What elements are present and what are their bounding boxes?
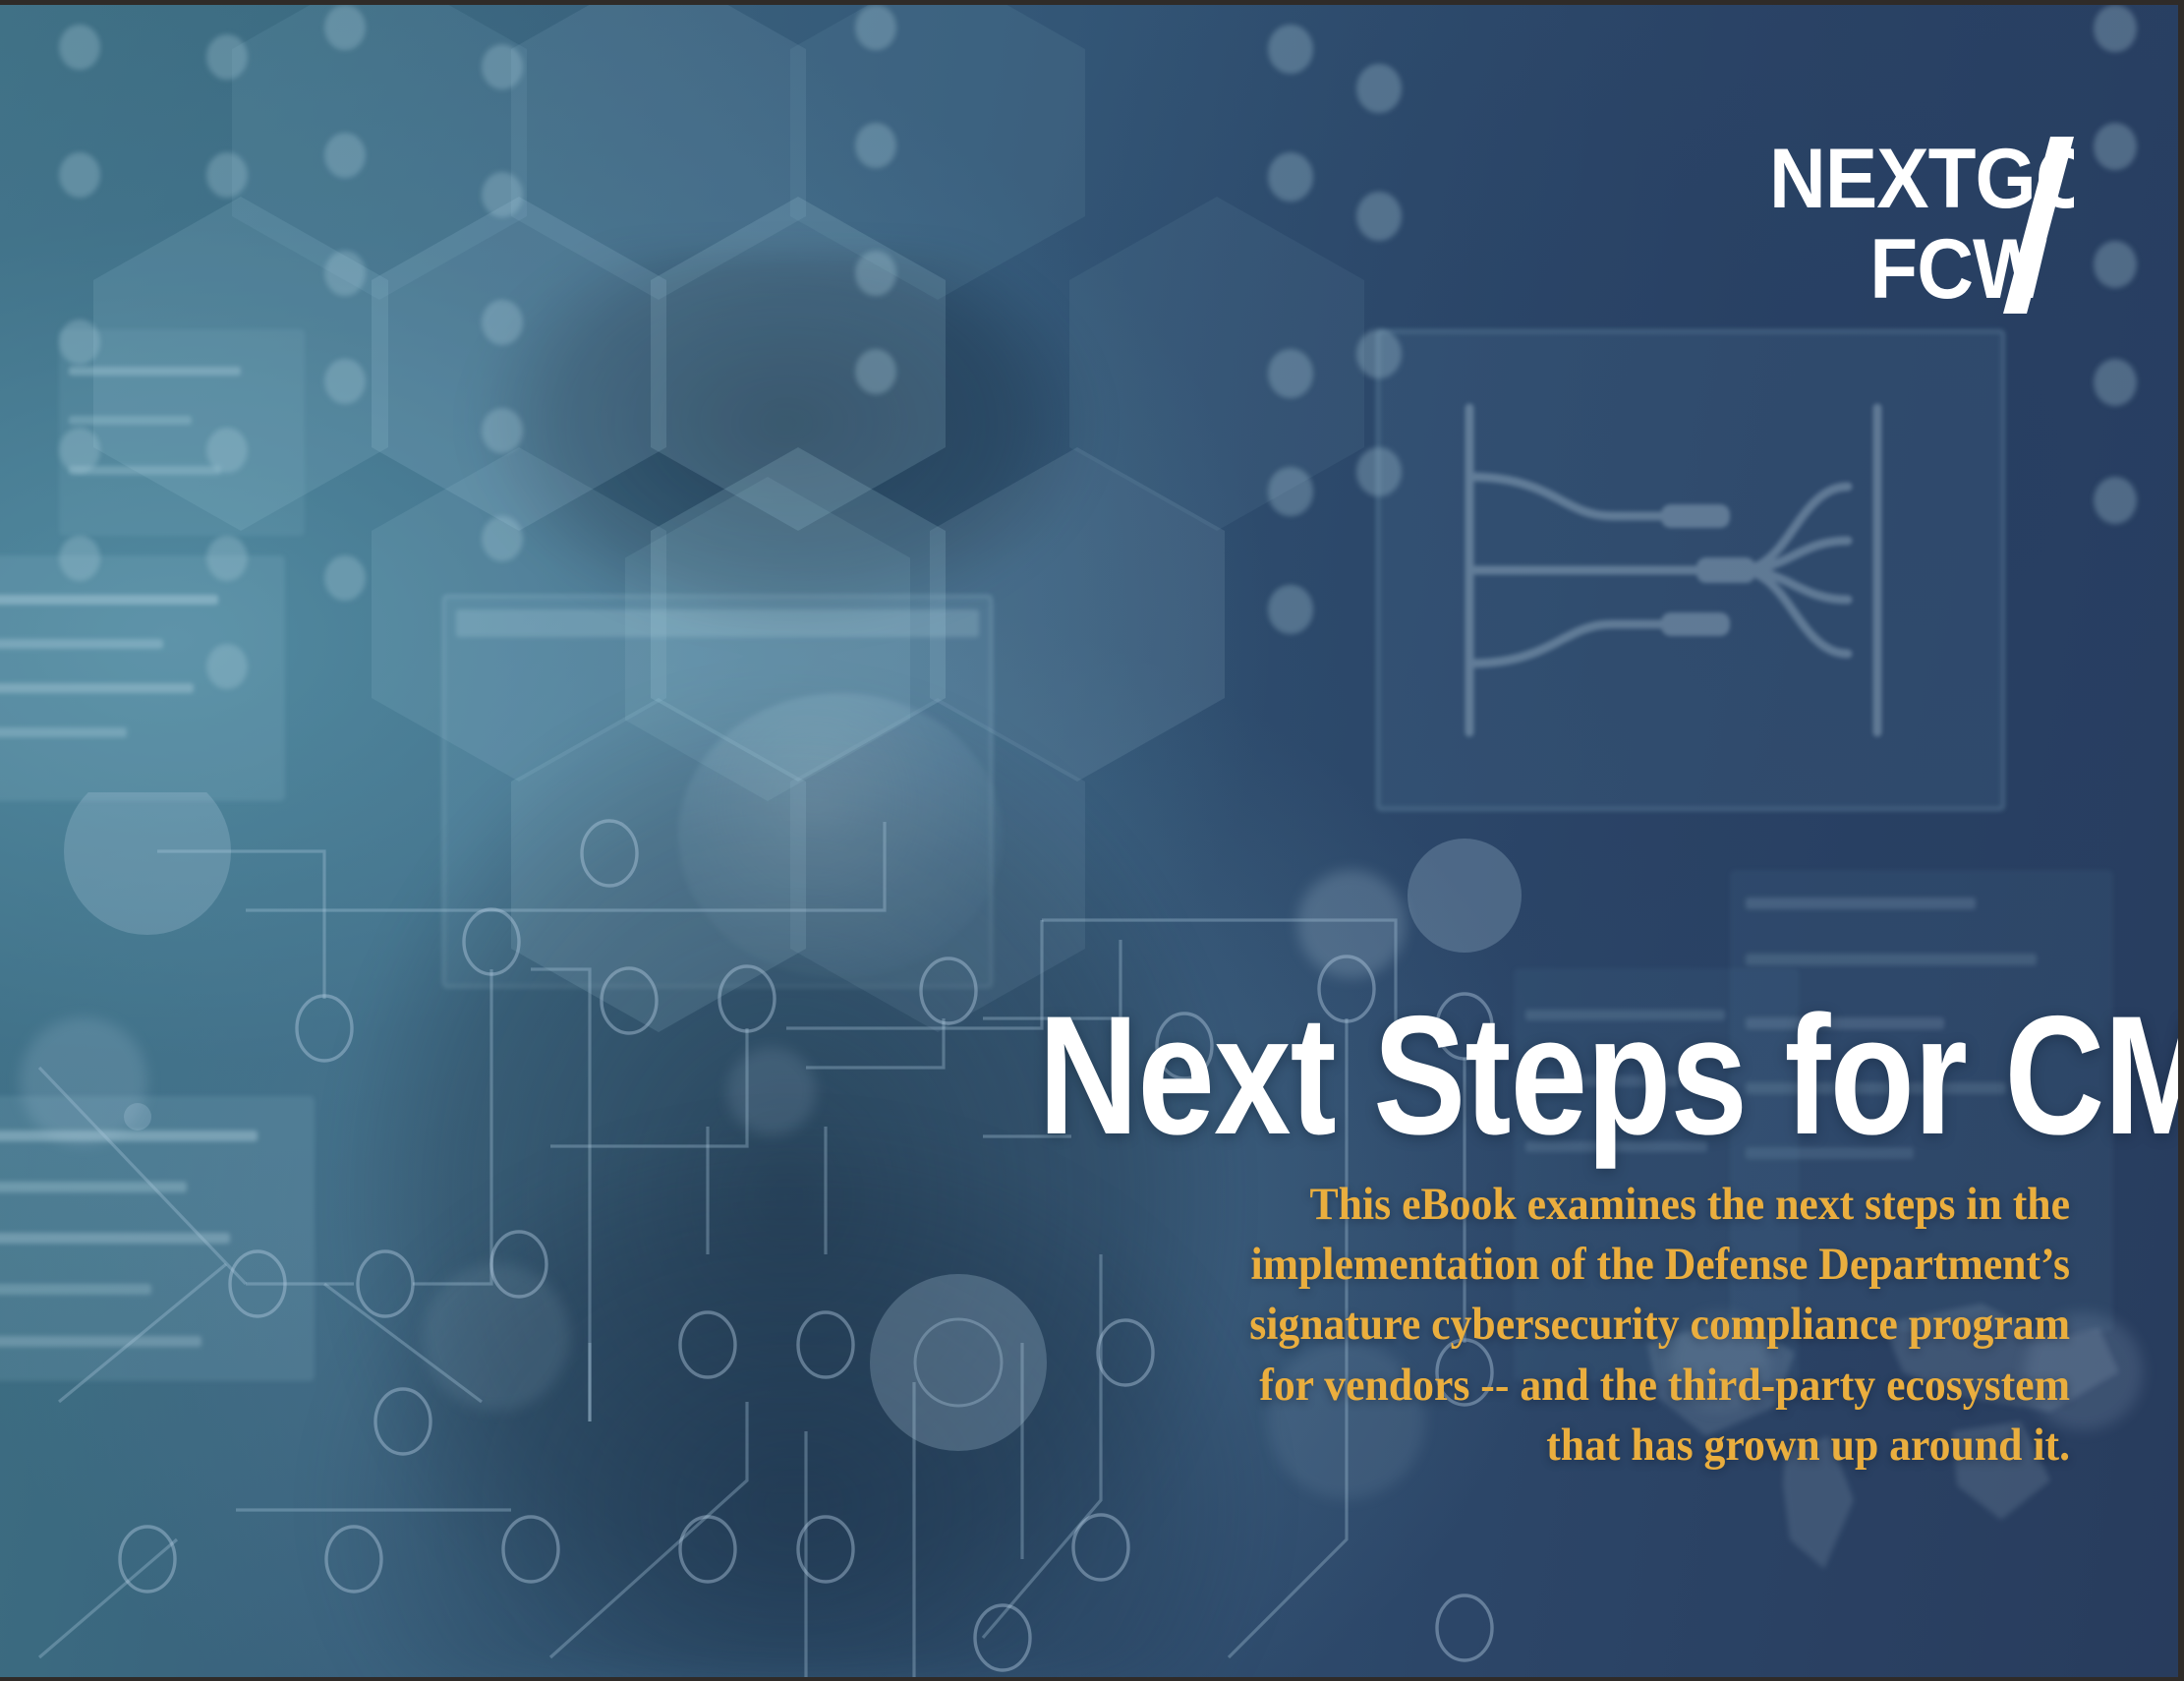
subtitle-line: This eBook examines the next steps in th… xyxy=(1310,1179,2070,1230)
ebook-cover: NEXTGOV FCW Next Steps for CMMC This eBo… xyxy=(0,0,2184,1681)
cover-text-block: Next Steps for CMMC This eBook examines … xyxy=(812,998,2070,1476)
nextgov-fcw-logo: NEXTGOV FCW xyxy=(1769,131,2074,318)
cover-subtitle: This eBook examines the next steps in th… xyxy=(900,1175,2070,1475)
page-title: Next Steps for CMMC xyxy=(1038,998,2070,1153)
subtitle-line: for vendors -- and the third-party ecosy… xyxy=(1259,1360,2070,1411)
logo-nextgov-text: NEXTGOV xyxy=(1769,131,2074,225)
subtitle-line: that has grown up around it. xyxy=(1546,1420,2070,1471)
subtitle-line: implementation of the Defense Department… xyxy=(1250,1239,2070,1290)
subtitle-line: signature cybersecurity compliance progr… xyxy=(1249,1299,2070,1350)
